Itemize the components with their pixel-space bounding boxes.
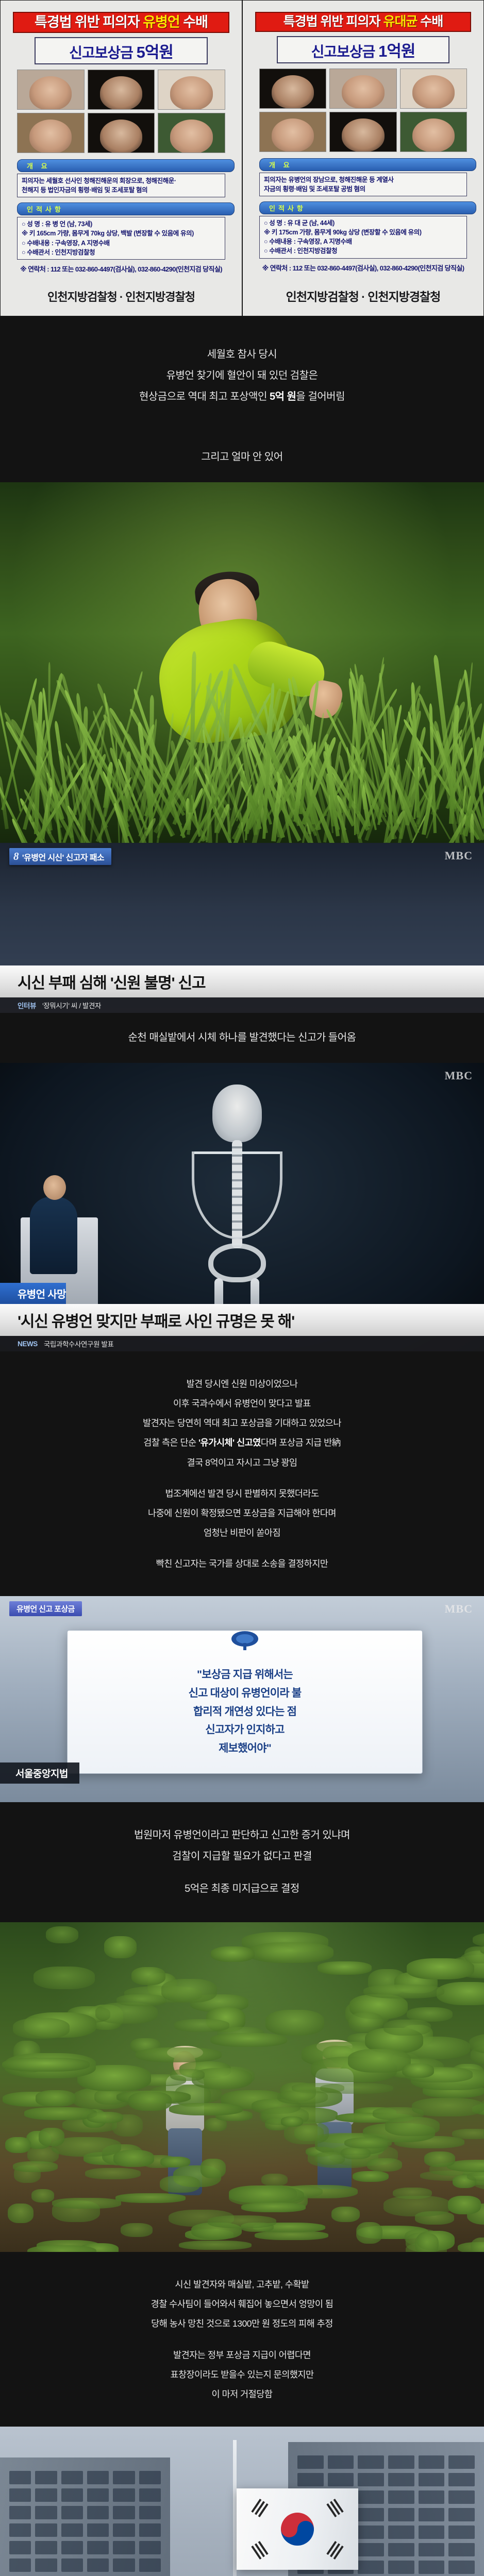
quote-line-3: 합리적 개연성 있다는 점 [85, 1703, 405, 1721]
crop-clump [8, 2204, 34, 2223]
narration-5-line-3: 5억은 최종 미지급으로 결정 [10, 1879, 474, 1899]
crop-clump [383, 2196, 451, 2216]
narration-6-line-4: 발견자는 정부 포상금 지급이 어렵다면 [10, 2346, 474, 2364]
poster-banner-right: 특경법 위반 피의자 유대균 수배 [255, 12, 471, 32]
court-quote-card: "보상금 지급 위해서는 신고 대상이 유병언이라 불 합리적 개연성 있다는 … [67, 1630, 423, 1773]
crop-clump [473, 1933, 484, 1947]
narration-block-6: 시신 발견자와 매실밭, 고추밭, 수확밭 경찰 수사팀이 들어와서 훼집어 놓… [0, 2252, 484, 2427]
crop-clump [448, 2196, 481, 2214]
narration-6-line-3: 당해 농사 망친 것으로 1300만 원 정도의 피해 추정 [10, 2315, 474, 2332]
photo-farm-field [0, 1922, 484, 2252]
building-window [358, 2526, 384, 2539]
suspect-photo [400, 69, 467, 109]
building-window [139, 2488, 161, 2502]
building-window [448, 2526, 475, 2539]
suspect-photo-grid-right [259, 69, 467, 152]
crop-clump [211, 1946, 255, 1962]
pelvis-icon [208, 1243, 266, 1282]
crop-clump [27, 2245, 96, 2252]
building-window [448, 2490, 475, 2504]
narration-4-line-5: 결국 8억이고 자시고 그냥 꽝임 [10, 1454, 474, 1471]
overview-line-1: 피의자는 유병언의 장남으로, 청해진해운 등 계열사 [264, 175, 462, 184]
news-channel-number: 8 [13, 850, 19, 863]
poster-overview-box: 피의자는 세월호 선사인 청해진해운의 회장으로, 청해진해운· 천해지 등 법… [17, 174, 225, 197]
building-window [139, 2541, 161, 2554]
poster-personal-box: ○ 성 명 : 유 병 언 (남, 73세) ※ 키 165cm 가량, 몸무게… [17, 217, 225, 260]
building-window [358, 2473, 384, 2486]
building-window [419, 2526, 445, 2539]
trigram-gam [326, 2499, 343, 2517]
quote-line-1: "보상금 지급 위해서는 [85, 1666, 405, 1684]
crop-clump [241, 2202, 306, 2212]
reward-label: 신고보상금 [69, 45, 137, 61]
narration-4-line-3: 발견자는 당연히 역대 최고 포상금을 기대하고 있었으나 [10, 1414, 474, 1432]
building-window [35, 2558, 57, 2572]
overview-line-2: 천해지 등 법인자금의 횡령·배임 및 조세포탈 혐의 [22, 185, 221, 195]
news-sub-text: 국립과학수사연구원 발표 [44, 1338, 114, 1349]
crop-clump [169, 2103, 243, 2115]
poster-banner-name: 유대균 [383, 14, 417, 29]
building-window [113, 2541, 135, 2554]
narration-4-line-7: 나중에 신원이 확정됐으면 포상금을 지급해야 한다며 [10, 1504, 474, 1522]
flag-pole [233, 2440, 237, 2576]
narration-4-line-2: 이후 국과수에서 유병언이 맞다고 발표 [10, 1395, 474, 1412]
wanted-posters-row: 특경법 위반 피의자 유병언 수배 신고보상금 5억원 개 요 피의자는 세월호… [0, 0, 484, 316]
narration-4-line-4: 검찰 측은 단순 '유가시체' 신고였다며 포상금 지급 반納 [10, 1434, 474, 1451]
building-window [388, 2508, 414, 2521]
quote-line-2: 신고 대상이 유병언이라 불 [85, 1684, 405, 1703]
crop-clump [31, 2189, 55, 2202]
crop-clump [121, 2223, 153, 2237]
building-window [113, 2558, 135, 2572]
suspect-photo [158, 70, 225, 110]
crop-clump [281, 2116, 303, 2127]
building-window [448, 2561, 475, 2574]
crop-clump [363, 1985, 444, 1999]
narration-2-line-1: 그리고 얼마 안 있어 [10, 448, 474, 467]
news-clip-3: 유병언 신고 포상금 MBC "보상금 지급 위해서는 신고 대상이 유병언이라… [0, 1596, 484, 1802]
crop-clump [208, 2215, 277, 2228]
narration-5-line-1: 법원마저 유병언이라고 판단하고 신고한 증거 있냐며 [10, 1826, 474, 1845]
news-headline-1: 시신 부패 심해 '신원 불명' 신고 [0, 965, 484, 997]
building-window [358, 2543, 384, 2556]
suspect-photo [17, 70, 85, 110]
building-window [87, 2558, 109, 2572]
suspect-photo [158, 113, 225, 153]
narration-4-line-9: 빡친 신고자는 국가를 상대로 소송을 결정하지만 [10, 1555, 474, 1572]
building-window [328, 2473, 354, 2486]
crop-clump [471, 2238, 484, 2252]
taeguk-symbol [281, 2513, 314, 2546]
building-window [448, 2543, 475, 2556]
narration-6-line-5: 표창장이라도 받을수 있는지 문의했지만 [10, 2366, 474, 2383]
korean-flag [237, 2488, 358, 2570]
news-subline-1: 인터뷰 '장뭐시기' 씨 / 발견자 [0, 997, 484, 1013]
poster-footer-right: 인천지방검찰청 · 인천지방경찰청 [250, 282, 476, 312]
building-window [448, 2455, 475, 2469]
poster-reward-right: 신고보상금 1억원 [277, 36, 449, 63]
suspect-photo-grid-left [17, 70, 225, 153]
crop-clump [348, 2049, 411, 2072]
crop-clump [36, 2090, 76, 2107]
crop-clump [131, 1967, 165, 1985]
building-window [9, 2488, 31, 2502]
building-window [61, 2471, 83, 2484]
news-clip-1: 8 '유병언 시신' 신고자 패소 MBC 시신 부패 심해 '신원 불명' 신… [0, 843, 484, 1013]
poster-banner-prefix: 특경법 위반 피의자 [35, 14, 143, 30]
crop-clump [113, 2150, 154, 2167]
page-root: 특경법 위반 피의자 유병언 수배 신고보상금 5억원 개 요 피의자는 세월호… [0, 0, 484, 2576]
building-window [35, 2488, 57, 2502]
n4-l4c: 다며 포상금 지급 반納 [261, 1437, 341, 1448]
building-window [388, 2561, 414, 2574]
speaker-figure [30, 1197, 77, 1274]
building-window [388, 2543, 414, 2556]
building-window [61, 2558, 83, 2572]
crop-clump [39, 2128, 64, 2146]
crop-clump [277, 2090, 328, 2104]
building-window [35, 2541, 57, 2554]
skeleton-graphic [155, 1084, 320, 1316]
crop-clump [344, 2138, 391, 2149]
crop-clump [265, 2010, 324, 2035]
building-window [448, 2508, 475, 2521]
crop-clump [318, 1961, 372, 1975]
crop-clump [46, 1926, 79, 1943]
poster-reward-left: 신고보상금 5억원 [35, 37, 208, 64]
crop-clump [320, 2083, 393, 2094]
building-window [388, 2526, 414, 2539]
building-window [87, 2488, 109, 2502]
building-window [113, 2523, 135, 2537]
photo-field-discovery [0, 482, 484, 843]
poster-overview-box: 피의자는 유병언의 장남으로, 청해진해운 등 계열사 자금의 횡령·배임 및 … [259, 173, 467, 196]
reward-label: 신고보상금 [311, 44, 379, 60]
overview-line-2: 자금의 횡령·배임 및 조세포탈 공범 혐의 [264, 184, 462, 194]
personal-line-2: ※ 키 175cm 가량, 몸무게 90kg 상당 (변장할 수 있음에 유의) [264, 228, 462, 237]
crop-clump [407, 1958, 474, 1979]
narration-spacer [10, 1471, 474, 1485]
lower-third-2: 유병언 사망 '시신 유병언 맞지만 부패로 사인 규명은 못 해' NEWS … [0, 1283, 484, 1351]
crop-clump [341, 2147, 371, 2159]
crop-clump [160, 2176, 200, 2193]
crop-clump [315, 2152, 345, 2164]
news-tag-3: 유병언 신고 포상금 [9, 1601, 82, 1616]
building-window [87, 2506, 109, 2519]
building-window [139, 2471, 161, 2484]
crop-clump [210, 2033, 287, 2047]
crop-clump [13, 2018, 69, 2039]
building-window [448, 2473, 475, 2486]
suspect-photo [88, 70, 155, 110]
building-window [9, 2523, 31, 2537]
building-window [87, 2471, 109, 2484]
quote-line-5: 제보했어야" [85, 1739, 405, 1758]
building-window [61, 2506, 83, 2519]
mbc-logo: MBC [445, 1602, 473, 1616]
building-window [419, 2561, 445, 2574]
personal-line-4: ○ 수배관서 : 인천지방검찰청 [264, 246, 462, 256]
news-tag-1: 8 '유병언 시신' 신고자 패소 [9, 848, 111, 865]
building-window [61, 2523, 83, 2537]
crop-clump [402, 2063, 434, 2078]
suspect-photo [329, 112, 396, 152]
personal-line-4: ○ 수배관서 : 인천지방검찰청 [22, 248, 221, 257]
suspect-photo [400, 112, 467, 152]
building-window [388, 2455, 414, 2469]
crop-clump [383, 2020, 431, 2035]
crop-clump [87, 2112, 123, 2123]
overview-line-1: 피의자는 세월호 선사인 청해진해운의 회장으로, 청해진해운· [22, 176, 221, 185]
personal-line-3: ○ 수배내용 : 구속영장, A 지명수배 [22, 239, 221, 248]
poster-contact-left: ※ 연락처 : 112 또는 032-860-4497(검사실), 032-86… [11, 264, 231, 274]
narration-block-5: 법원마저 유병언이라고 판단하고 신고한 증거 있냐며 검찰이 지급할 필요가 … [0, 1802, 484, 1922]
building-window [9, 2471, 31, 2484]
poster-footer-left: 인천지방검찰청 · 인천지방경찰청 [8, 283, 235, 312]
narration-spacer [10, 1866, 474, 1879]
crop-clump [415, 2233, 439, 2252]
n4-l4a: 검찰 측은 단순 [143, 1437, 198, 1448]
poster-banner-left: 특경법 위반 피의자 유병언 수배 [13, 12, 229, 33]
crop-clump [5, 2137, 31, 2154]
crop-clump [2, 2058, 90, 2072]
poster-contact-right: ※ 연락처 : 112 또는 032-860-4497(검사실), 032-86… [253, 263, 473, 273]
ribcage-icon [192, 1151, 282, 1239]
crop-clump [353, 2171, 389, 2182]
crop-clump [412, 2098, 484, 2116]
building-window [388, 2473, 414, 2486]
court-quote-text: "보상금 지급 위해서는 신고 대상이 유병언이라 불 합리적 개연성 있다는 … [85, 1666, 405, 1757]
building-window [419, 2473, 445, 2486]
photo-government-building [0, 2427, 484, 2576]
narration-3-line-1: 순천 매실밭에서 시체 하나를 발견했다는 신고가 들어옴 [10, 1028, 474, 1047]
crop-clump [161, 1979, 217, 2003]
building-window [358, 2508, 384, 2521]
mbc-logo: MBC [445, 1069, 473, 1082]
building-window [139, 2558, 161, 2572]
poster-banner-suffix: 수배 [180, 14, 208, 30]
crop-clump [85, 2168, 141, 2179]
crop-clump [13, 2161, 58, 2172]
suspect-photo [17, 113, 85, 153]
crop-clump [128, 2092, 172, 2111]
narration-4-line-6: 법조계에선 발견 당시 판별하지 못했더라도 [10, 1485, 474, 1502]
building-left [0, 2458, 170, 2576]
building-window [358, 2490, 384, 2504]
crop-clump [261, 2174, 288, 2186]
building-window [388, 2490, 414, 2504]
n4-emph: '유가시체' 신고였 [198, 1437, 261, 1448]
building-window [87, 2523, 109, 2537]
crop-clump [179, 2241, 252, 2250]
reward-amount: 5억원 [137, 43, 173, 61]
poster-personal-box: ○ 성 명 : 유 대 균 (남, 44세) ※ 키 175cm 가량, 몸무게… [259, 216, 467, 259]
reward-amount: 1억원 [378, 42, 415, 60]
news-tag-2: 유병언 사망 [0, 1283, 66, 1304]
building-window [419, 2508, 445, 2521]
building-window [61, 2488, 83, 2502]
crop-clump [115, 2193, 186, 2203]
crop-clump [248, 1942, 333, 1963]
personal-line-3: ○ 수배내용 : 구속영장, A 지명수배 [264, 237, 462, 246]
narration-1-line-3: 현상금으로 역대 최고 포상액인 5억 원을 걸어버림 [10, 387, 474, 406]
building-window [61, 2541, 83, 2554]
poster-banner-name: 유병언 [143, 14, 180, 30]
personal-line-1: ○ 성 명 : 유 대 균 (남, 44세) [264, 218, 462, 228]
narration-block-1: 세월호 참사 당시 유병언 찾기에 혈안이 돼 있던 검찰은 현상금으로 역대 … [0, 316, 484, 432]
building-window [113, 2471, 135, 2484]
narration-block-3: 순천 매실밭에서 시체 하나를 발견했다는 신고가 들어옴 [0, 1013, 484, 1063]
crop-clump [24, 2107, 97, 2120]
crop-clump [201, 2159, 226, 2178]
building-window [139, 2506, 161, 2519]
building-window [35, 2506, 57, 2519]
building-window [419, 2490, 445, 2504]
building-window [139, 2523, 161, 2537]
building-window [419, 2543, 445, 2556]
n1-l3a: 현상금으로 역대 최고 포상액인 [139, 391, 270, 402]
suspect-photo [329, 69, 396, 109]
building-window [358, 2561, 384, 2574]
n1-amount: 5억 원 [270, 391, 296, 402]
building-window [35, 2523, 57, 2537]
building-window [113, 2488, 135, 2502]
news-clip-2: MBC 유병언 사망 '시신 유병언 맞지만 부패로 사인 규명은 못 해' N… [0, 1063, 484, 1351]
crop-clump [424, 2151, 455, 2167]
suspect-photo [259, 69, 326, 109]
crop-clump [136, 2047, 222, 2063]
court-org-chip: 서울중앙지법 [0, 1762, 79, 1784]
crop-clump [367, 2158, 402, 2172]
building-window [87, 2541, 109, 2554]
crop-clump [170, 2069, 204, 2081]
building-window [297, 2455, 324, 2469]
quote-line-4: 신고자가 인지하고 [85, 1721, 405, 1739]
lower-third-1: 시신 부패 심해 '신원 불명' 신고 인터뷰 '장뭐시기' 씨 / 발견자 [0, 965, 484, 1013]
skull-icon [212, 1084, 262, 1142]
building-window [113, 2506, 135, 2519]
news-sub-key: NEWS [18, 1340, 38, 1348]
satellite-dish-icon [229, 1629, 261, 1651]
narration-5-line-2: 검찰이 지급할 필요가 없다고 판결 [10, 1847, 474, 1866]
news-sub-key: 인터뷰 [18, 1000, 36, 1010]
building-window [358, 2455, 384, 2469]
news-sub-text: '장뭐시기' 씨 / 발견자 [42, 1000, 101, 1010]
trigram-ri [251, 2541, 268, 2560]
building-window [35, 2471, 57, 2484]
narration-6-line-6: 이 마저 거절당함 [10, 2385, 474, 2403]
narration-4-line-8: 엄청난 비판이 쏟아짐 [10, 1524, 474, 1541]
personal-line-1: ○ 성 명 : 유 병 언 (남, 73세) [22, 219, 221, 229]
n1-l3c: 을 걸어버림 [296, 391, 345, 402]
wanted-poster-yoo-dae-gyun: 특경법 위반 피의자 유대균 수배 신고보상금 1억원 개 요 피의자는 유병언… [242, 0, 484, 316]
crop-clump [356, 2222, 383, 2244]
suspect-photo [88, 113, 155, 153]
news-headline-2: '시신 유병언 맞지만 부패로 사인 규명은 못 해' [0, 1304, 484, 1336]
poster-section-tag-personal: 인적사항 [17, 202, 235, 215]
narration-block-4: 발견 당시엔 신원 미상이었으나 이후 국과수에서 유병언이 맞다고 발표 발견… [0, 1351, 484, 1596]
building-window [328, 2455, 354, 2469]
news-tag-3-label: 유병언 신고 포상금 [16, 1603, 75, 1614]
building-window [419, 2455, 445, 2469]
window-grid-left [9, 2471, 161, 2576]
narration-block-2: 그리고 얼마 안 있어 [0, 432, 484, 482]
wanted-poster-yoo-byung-eun: 특경법 위반 피의자 유병언 수배 신고보상금 5억원 개 요 피의자는 세월호… [0, 0, 242, 316]
narration-spacer [10, 2333, 474, 2346]
building-window [9, 2506, 31, 2519]
building-window [9, 2541, 31, 2554]
trigram-gon [326, 2541, 343, 2560]
narration-6-line-1: 시신 발견자와 매실밭, 고추밭, 수확밭 [10, 2276, 474, 2293]
narration-4-line-1: 발견 당시엔 신원 미상이었으나 [10, 1375, 474, 1393]
poster-banner-prefix: 특경법 위반 피의자 [283, 14, 383, 29]
poster-section-tag-overview: 개 요 [259, 158, 476, 171]
crop-clump [104, 1936, 137, 1958]
personal-line-2: ※ 키 165cm 가량, 몸무게 70kg 상당, 백발 (변장할 수 있음에… [22, 229, 221, 238]
narration-spacer [10, 1541, 474, 1555]
crop-clump [385, 2117, 440, 2136]
crop-clump [331, 2207, 360, 2222]
trigram-geon [251, 2499, 268, 2517]
building-window [297, 2473, 324, 2486]
poster-banner-suffix: 수배 [417, 14, 443, 29]
crop-clump [34, 1967, 95, 1989]
news-subline-2: NEWS 국립과학수사연구원 발표 [0, 1336, 484, 1351]
crop-clump [116, 1994, 166, 2006]
crop-clump [174, 2019, 229, 2032]
news-tag-label: '유병언 시신' 신고자 패소 [22, 851, 104, 863]
suspect-photo [259, 112, 326, 152]
building-window [9, 2558, 31, 2572]
narration-1-line-2: 유병언 찾기에 혈안이 돼 있던 검찰은 [10, 366, 474, 385]
narration-1-line-1: 세월호 참사 당시 [10, 345, 474, 364]
mbc-logo: MBC [445, 849, 473, 862]
crop-clump [52, 2198, 121, 2208]
poster-section-tag-overview: 개 요 [17, 159, 235, 172]
poster-section-tag-personal: 인적사항 [259, 201, 476, 214]
narration-6-line-2: 경찰 수사팀이 들어와서 훼집어 놓으면서 엉망이 됨 [10, 2295, 474, 2313]
